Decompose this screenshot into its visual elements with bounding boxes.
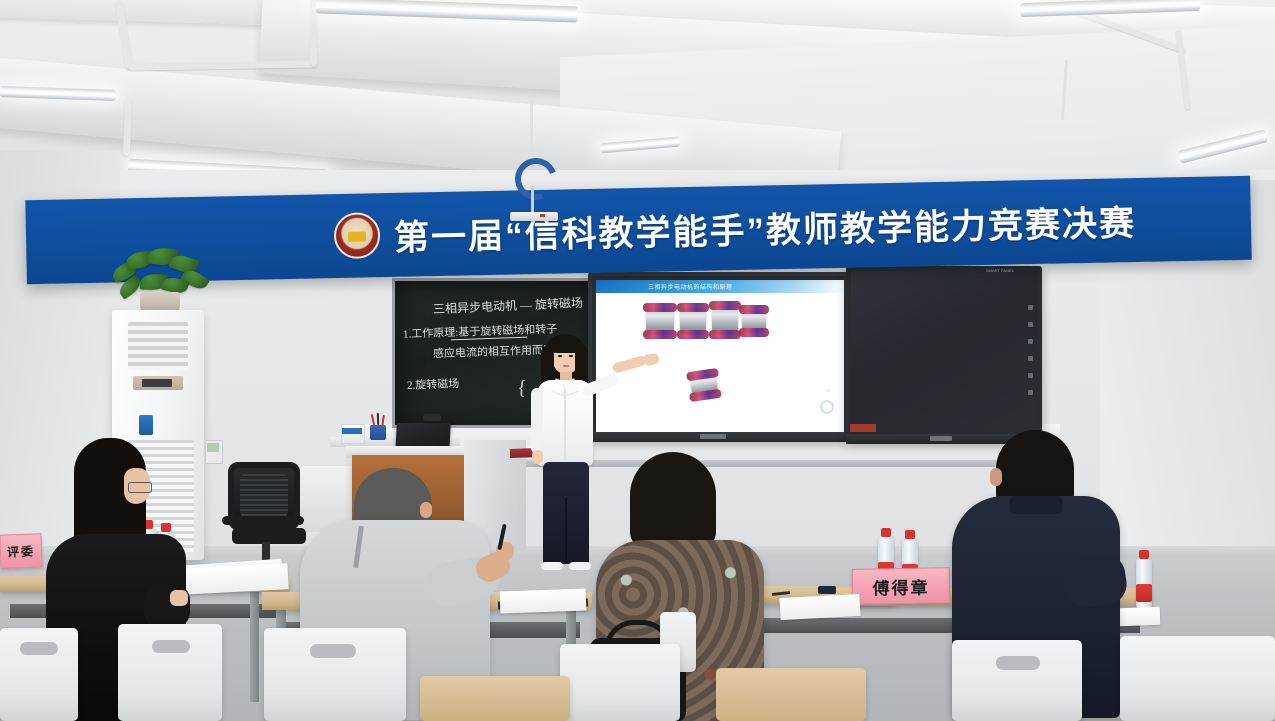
chair[interactable] [264, 628, 406, 721]
home-button-icon[interactable] [1028, 390, 1033, 395]
blackboard-title: 三相异步电动机 — 旋转磁场 [433, 294, 584, 318]
presenter-shoe [569, 562, 591, 570]
chair-handle-slot [310, 644, 356, 658]
presentation-slide: 三相异步电动机的结构和原理 · · · [596, 280, 844, 432]
desk-surface [1120, 636, 1275, 721]
presenter-trouser-seam [565, 498, 567, 564]
volume-up-icon[interactable] [1028, 356, 1033, 361]
presenter-eye [558, 355, 562, 357]
tissue-box-band [342, 428, 362, 434]
paper-sheet [779, 594, 860, 620]
volume-down-icon[interactable] [1028, 373, 1033, 378]
desk-leg [250, 592, 259, 702]
judge-hand [170, 590, 188, 606]
stator-coil-image [742, 310, 766, 332]
chair-armrest [222, 516, 304, 525]
chair-handle-slot [996, 656, 1040, 670]
slide-dot-decoration [827, 389, 830, 392]
drop-rod [530, 100, 533, 162]
smart-display-slide[interactable]: 三相异步电动机的结构和原理 · · · [588, 272, 848, 440]
hanger-bar [510, 212, 558, 221]
menu-button-icon[interactable] [1028, 322, 1033, 327]
slide-ring-decoration [820, 400, 834, 414]
slide-title: 三相异步电动机的结构和原理 [648, 282, 733, 291]
judge-ear [420, 502, 432, 518]
presenter-mouth [563, 365, 569, 367]
stator-coil-image [712, 306, 738, 334]
banner-title: 第一届“信科教学能手”教师教学能力竞赛决赛 [394, 195, 1137, 261]
hanger-stem [531, 186, 534, 214]
name-card-right: 傅得章 [852, 567, 951, 605]
stator-coil-image [690, 373, 719, 396]
podium-microphone[interactable] [423, 414, 441, 421]
slide-caption-dots: · · · [696, 346, 719, 352]
presenter-eye [569, 355, 573, 357]
smart-display-off[interactable] [846, 266, 1042, 442]
blackboard-line-3: 2.旋转磁场 [407, 375, 460, 393]
chair[interactable] [952, 640, 1082, 721]
stator-coil-image [646, 308, 674, 334]
front-desk [716, 668, 866, 721]
power-button-icon[interactable] [1028, 305, 1033, 310]
classroom-scene: 三相异步电动机 — 旋转磁场 1.工作原理:基于旋转磁场和转子 感应电流的相互作… [0, 0, 1275, 721]
ac-top-vent [128, 322, 188, 370]
paper-sheet [500, 589, 587, 614]
pen-holder [370, 425, 386, 440]
display-control-buttons[interactable] [1027, 305, 1034, 395]
chair-handle-slot [152, 640, 190, 653]
display-brand-logo [930, 436, 952, 441]
tissue-box [341, 424, 365, 444]
display-brand-logo [700, 434, 726, 439]
pen [377, 413, 379, 425]
chair[interactable] [118, 624, 222, 721]
judge-collar [1010, 496, 1062, 514]
chair-mesh-back [240, 474, 288, 518]
thermostat-screen [207, 443, 219, 452]
judge-ear [990, 468, 1002, 486]
stator-coil-image [680, 308, 706, 334]
front-desk [420, 676, 570, 721]
source-button-icon[interactable] [1028, 339, 1033, 344]
ac-display-screen [142, 379, 172, 387]
energy-label-icon [139, 415, 153, 435]
glasses-icon [128, 482, 152, 493]
display-model-label: SMART PANEL [986, 268, 1014, 273]
presenter-left-arm [531, 388, 543, 454]
chair[interactable] [560, 644, 680, 721]
presenter-left-hand [532, 450, 543, 464]
mobile-phone[interactable] [818, 586, 836, 594]
school-emblem-icon [334, 212, 381, 259]
display-badge [850, 424, 876, 432]
hanger-indicator [540, 214, 545, 217]
plant-pot [140, 292, 180, 312]
presenter-shirt-placket [564, 390, 566, 460]
display-screen [851, 271, 1037, 437]
presenter-shoe [541, 562, 563, 570]
chair-handle-slot [20, 642, 58, 655]
water-bottle [1136, 558, 1152, 610]
judge-hair [630, 452, 716, 548]
